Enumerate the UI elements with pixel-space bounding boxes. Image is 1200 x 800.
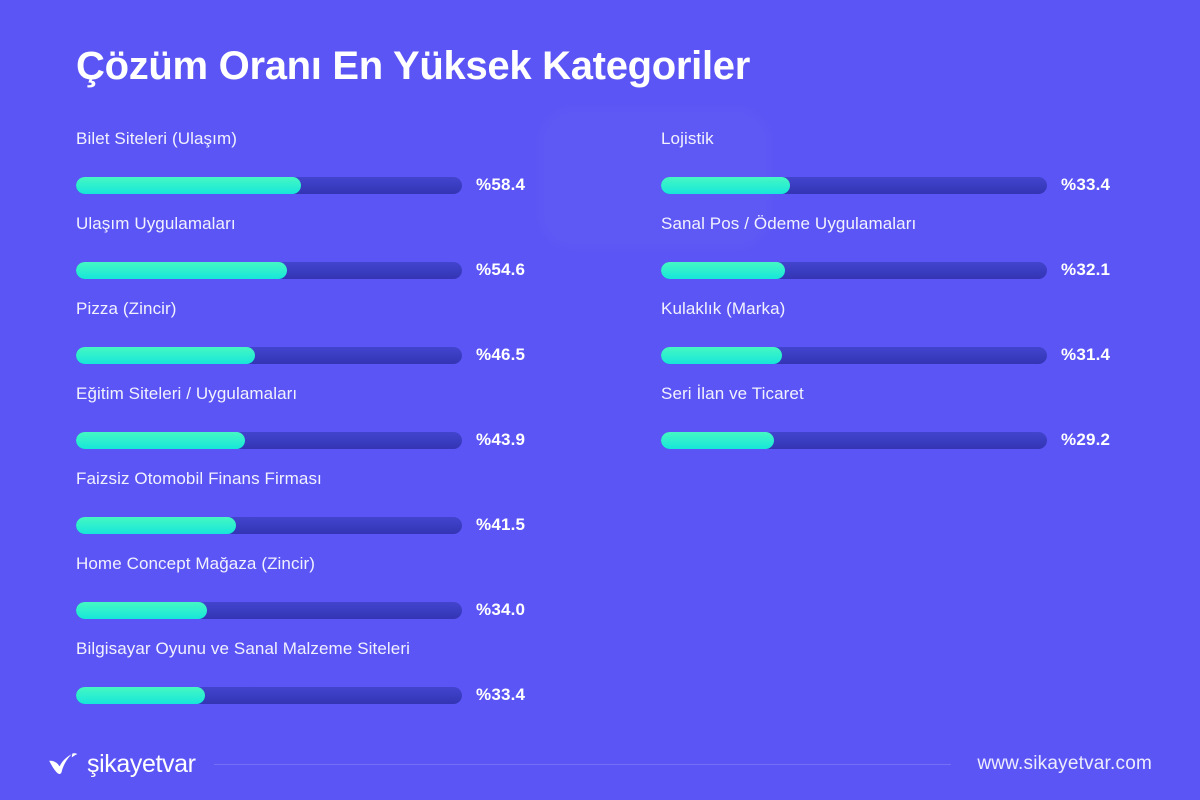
category-row: Lojistik%33.4	[661, 128, 1126, 213]
category-label: Bilgisayar Oyunu ve Sanal Malzeme Sitele…	[76, 638, 541, 660]
progress-fill	[76, 687, 205, 704]
percentage-label: %32.1	[1061, 260, 1110, 280]
category-label: Pizza (Zincir)	[76, 298, 541, 320]
category-column-left: Bilet Siteleri (Ulaşım)%58.4Ulaşım Uygul…	[76, 128, 541, 723]
progress-track	[76, 262, 462, 279]
progress-fill	[76, 517, 236, 534]
site-url[interactable]: www.sikayetvar.com	[977, 753, 1152, 775]
footer: şikayetvar www.sikayetvar.com	[0, 728, 1200, 800]
progress-track	[661, 432, 1047, 449]
category-bar-line: %41.5	[76, 515, 541, 535]
category-label: Sanal Pos / Ödeme Uygulamaları	[661, 213, 1126, 235]
page-title: Çözüm Oranı En Yüksek Kategoriler	[76, 44, 750, 88]
percentage-label: %33.4	[476, 685, 525, 705]
category-bar-line: %43.9	[76, 430, 541, 450]
progress-track	[661, 262, 1047, 279]
progress-track	[76, 432, 462, 449]
category-label: Eğitim Siteleri / Uygulamaları	[76, 383, 541, 405]
progress-fill	[661, 262, 785, 279]
category-label: Seri İlan ve Ticaret	[661, 383, 1126, 405]
brand-logo-text: şikayetvar	[87, 750, 196, 779]
progress-track	[76, 517, 462, 534]
category-label: Faizsiz Otomobil Finans Firması	[76, 468, 541, 490]
category-label: Home Concept Mağaza (Zincir)	[76, 553, 541, 575]
percentage-label: %33.4	[1061, 175, 1110, 195]
percentage-label: %29.2	[1061, 430, 1110, 450]
progress-track	[661, 177, 1047, 194]
categories-columns: Bilet Siteleri (Ulaşım)%58.4Ulaşım Uygul…	[0, 128, 1200, 723]
check-swoosh-icon	[48, 751, 78, 777]
progress-track	[661, 347, 1047, 364]
category-row: Faizsiz Otomobil Finans Firması%41.5	[76, 468, 541, 553]
category-row: Home Concept Mağaza (Zincir)%34.0	[76, 553, 541, 638]
progress-track	[76, 347, 462, 364]
progress-track	[76, 687, 462, 704]
infographic-page: Çözüm Oranı En Yüksek Kategoriler Bilet …	[0, 0, 1200, 800]
category-row: Pizza (Zincir)%46.5	[76, 298, 541, 383]
progress-fill	[661, 347, 782, 364]
category-row: Bilgisayar Oyunu ve Sanal Malzeme Sitele…	[76, 638, 541, 723]
percentage-label: %34.0	[476, 600, 525, 620]
brand-logo[interactable]: şikayetvar	[48, 750, 196, 779]
progress-fill	[76, 177, 301, 194]
category-bar-line: %54.6	[76, 260, 541, 280]
category-bar-line: %58.4	[76, 175, 541, 195]
progress-track	[76, 602, 462, 619]
category-label: Lojistik	[661, 128, 1126, 150]
category-bar-line: %33.4	[661, 175, 1126, 195]
progress-fill	[76, 432, 245, 449]
progress-fill	[661, 432, 774, 449]
category-bar-line: %29.2	[661, 430, 1126, 450]
percentage-label: %58.4	[476, 175, 525, 195]
category-bar-line: %31.4	[661, 345, 1126, 365]
progress-fill	[76, 347, 255, 364]
progress-fill	[76, 602, 207, 619]
percentage-label: %43.9	[476, 430, 525, 450]
percentage-label: %54.6	[476, 260, 525, 280]
progress-fill	[661, 177, 790, 194]
footer-divider	[214, 764, 952, 765]
percentage-label: %41.5	[476, 515, 525, 535]
category-row: Kulaklık (Marka)%31.4	[661, 298, 1126, 383]
category-row: Seri İlan ve Ticaret%29.2	[661, 383, 1126, 468]
category-label: Ulaşım Uygulamaları	[76, 213, 541, 235]
category-row: Bilet Siteleri (Ulaşım)%58.4	[76, 128, 541, 213]
category-bar-line: %32.1	[661, 260, 1126, 280]
category-label: Bilet Siteleri (Ulaşım)	[76, 128, 541, 150]
percentage-label: %46.5	[476, 345, 525, 365]
progress-fill	[76, 262, 287, 279]
category-label: Kulaklık (Marka)	[661, 298, 1126, 320]
progress-track	[76, 177, 462, 194]
category-bar-line: %33.4	[76, 685, 541, 705]
category-bar-line: %46.5	[76, 345, 541, 365]
category-row: Eğitim Siteleri / Uygulamaları%43.9	[76, 383, 541, 468]
category-bar-line: %34.0	[76, 600, 541, 620]
percentage-label: %31.4	[1061, 345, 1110, 365]
category-column-right: Lojistik%33.4Sanal Pos / Ödeme Uygulamal…	[661, 128, 1126, 723]
category-row: Sanal Pos / Ödeme Uygulamaları%32.1	[661, 213, 1126, 298]
category-row: Ulaşım Uygulamaları%54.6	[76, 213, 541, 298]
